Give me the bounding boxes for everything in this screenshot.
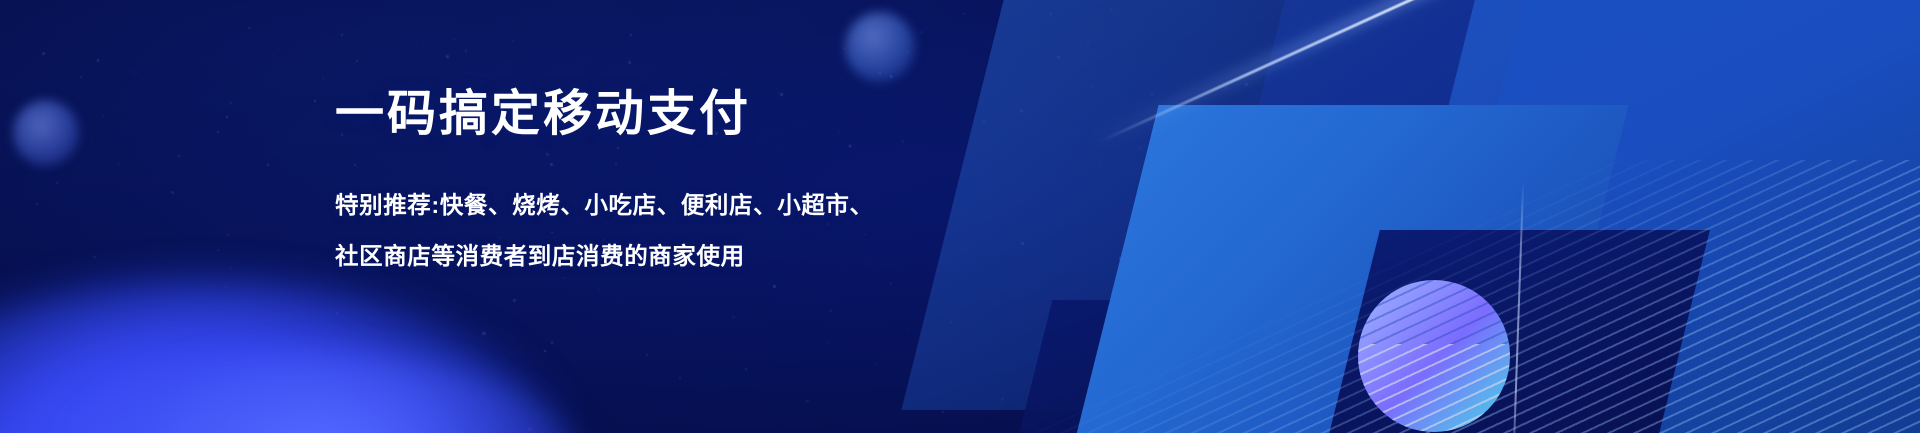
orb-stripe-highlight	[1358, 344, 1510, 432]
bokeh-orb-left-icon	[13, 100, 79, 166]
banner-subtitle: 特别推荐:快餐、烧烤、小吃店、便利店、小超市、 社区商店等消费者到店消费的商家使…	[335, 180, 874, 282]
promo-banner: 一码搞定移动支付 特别推荐:快餐、烧烤、小吃店、便利店、小超市、 社区商店等消费…	[0, 0, 1920, 433]
subtitle-line-1: 特别推荐:快餐、烧烤、小吃店、便利店、小超市、	[335, 180, 874, 231]
subtitle-line-2: 社区商店等消费者到店消费的商家使用	[335, 231, 874, 282]
banner-headline: 一码搞定移动支付	[335, 88, 874, 141]
striped-gradient-circle	[1358, 280, 1510, 432]
banner-copy: 一码搞定移动支付 特别推荐:快餐、烧烤、小吃店、便利店、小超市、 社区商店等消费…	[335, 88, 874, 282]
geometric-artwork	[900, 0, 1920, 433]
